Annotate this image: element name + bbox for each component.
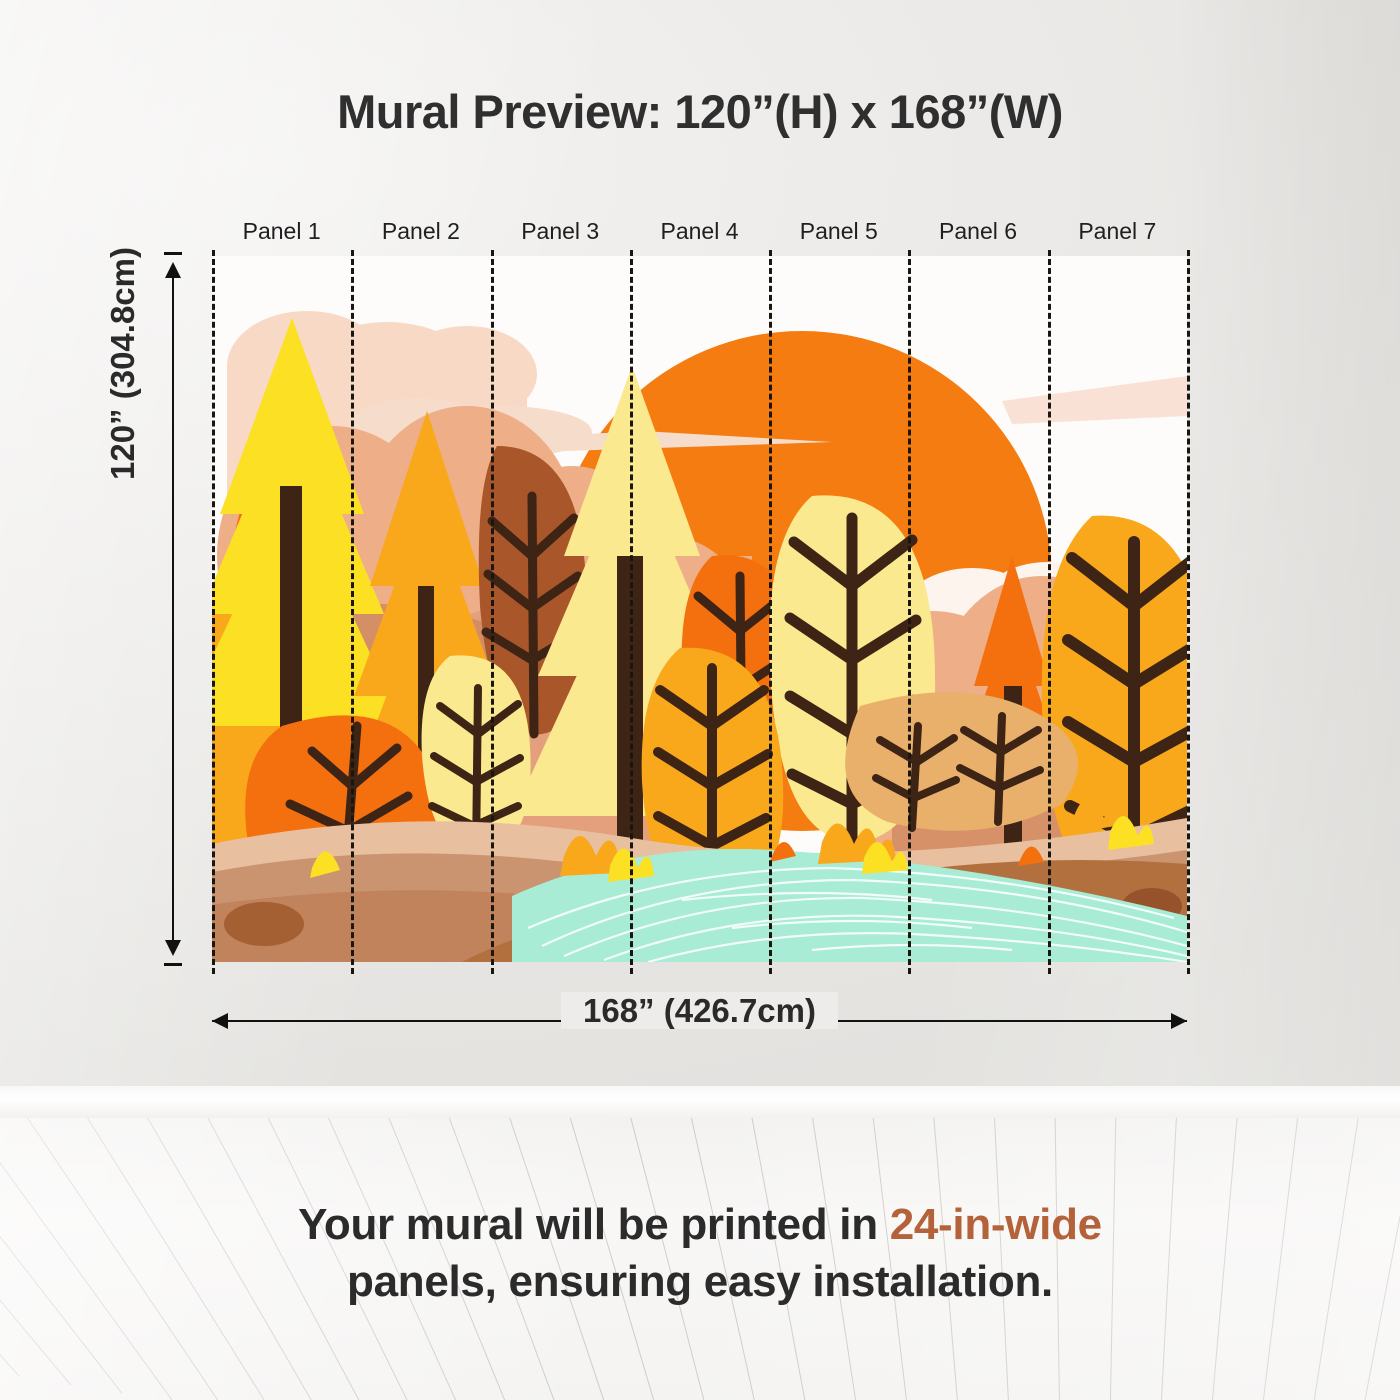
- height-tick-top: [164, 252, 182, 255]
- width-label: 168” (426.7cm): [212, 992, 1187, 1030]
- caption-line-2: panels, ensuring easy installation.: [0, 1253, 1400, 1310]
- panel-divider: [491, 250, 494, 974]
- height-tick-bottom: [164, 963, 182, 966]
- height-arrow-bottom-icon: [165, 940, 181, 956]
- mural-artwork: [212, 256, 1187, 962]
- panel-divider: [908, 250, 911, 974]
- height-label: 120” (304.8cm): [104, 247, 142, 480]
- caption-highlight: 24-in-wide: [890, 1200, 1102, 1249]
- width-label-text: 168” (426.7cm): [561, 992, 838, 1029]
- wall-right-shadow: [1170, 0, 1400, 1092]
- panel-label-2: Panel 2: [382, 218, 460, 245]
- width-dimension-guide: 168” (426.7cm): [212, 1010, 1187, 1032]
- installation-caption: Your mural will be printed in 24-in-wide…: [0, 1196, 1400, 1310]
- panel-label-1: Panel 1: [243, 218, 321, 245]
- height-arrow-top-icon: [165, 262, 181, 278]
- baseboard: [0, 1086, 1400, 1118]
- caption-line-1-prefix: Your mural will be printed in: [298, 1200, 890, 1249]
- height-line: [172, 266, 174, 952]
- panel-divider: [630, 250, 633, 974]
- height-dimension-guide: [163, 252, 183, 966]
- panel-label-6: Panel 6: [939, 218, 1017, 245]
- panel-label-5: Panel 5: [800, 218, 878, 245]
- page-title: Mural Preview: 120”(H) x 168”(W): [0, 84, 1400, 139]
- panel-divider: [769, 250, 772, 974]
- panel-divider: [351, 250, 354, 974]
- caption-line-1: Your mural will be printed in 24-in-wide: [0, 1196, 1400, 1253]
- mural-preview-area[interactable]: [212, 256, 1187, 962]
- panel-divider: [212, 250, 215, 974]
- panel-label-7: Panel 7: [1078, 218, 1156, 245]
- panel-label-4: Panel 4: [660, 218, 738, 245]
- panel-divider: [1048, 250, 1051, 974]
- panel-divider: [1187, 250, 1190, 974]
- panel-label-3: Panel 3: [521, 218, 599, 245]
